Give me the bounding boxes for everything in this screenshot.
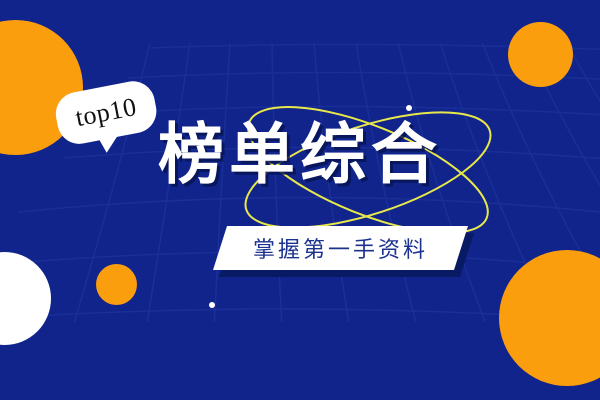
decor-circle-orange-top-right: [508, 22, 573, 87]
page-title: 榜单综合: [0, 118, 600, 192]
decor-dot-upper: [406, 105, 412, 111]
poster-canvas: top10 榜单综合 掌握第一手资料: [0, 0, 600, 400]
subtitle-text: 掌握第一手资料: [213, 226, 468, 270]
decor-circle-orange-mid-left: [96, 264, 137, 305]
decor-dot-lower: [209, 302, 215, 308]
subtitle-banner: 掌握第一手资料: [213, 226, 468, 270]
